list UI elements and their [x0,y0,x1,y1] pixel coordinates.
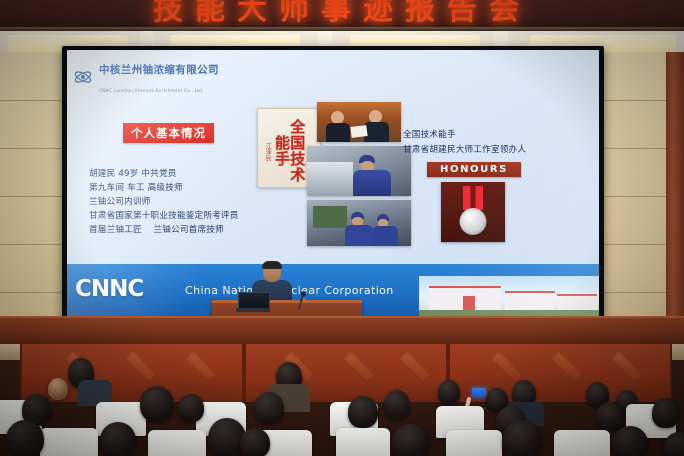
wall-wood-trim [666,52,684,342]
audience-head [178,394,204,422]
chair [40,428,98,456]
award-ceremony-photo [317,102,401,142]
laptop-base [236,308,270,312]
bio-line: 甘肃省国家第十职业技能鉴定所考评员 [89,210,319,224]
worker-at-machine-photo [307,146,411,196]
audience-head [612,426,648,456]
chair [148,430,206,456]
honours-text-block: 全国技术能手 甘肃省胡建民大师工作室领办人 [403,128,593,157]
calligraphy-text: 全国技术能手 [274,114,305,187]
projection-screen: 中核兰州铀浓缩有限公司 CNNC Lanzhou Uranium Enrichm… [67,50,599,316]
audience-head [6,420,44,456]
audience-head [140,386,174,422]
audience-head [100,422,136,456]
audience-head [502,420,542,456]
cnnc-atom-logo-icon [73,67,93,87]
audience-head [438,380,460,405]
speaker-hair [262,261,282,269]
company-name-en: CNNC Lanzhou Uranium Enrichment Co., Ltd… [99,88,204,93]
bio-line: 兰铀公司内训师 [89,196,319,210]
led-banner-text: 技能大师事迹报告会 [0,0,684,26]
audience-head [652,398,680,428]
smartphone-screen [472,388,486,397]
audience-head [48,378,68,400]
honour-line: 甘肃省胡建民大师工作室领办人 [403,143,593,158]
medal-photo [441,182,505,242]
audience-head [254,392,284,424]
medal-ribbon [463,186,483,210]
audience-head [384,390,410,420]
slide-header: 中核兰州铀浓缩有限公司 CNNC Lanzhou Uranium Enrichm… [73,58,219,96]
conference-hall-photo: 技能大师事迹报告会 [0,0,684,456]
section-title-banner: 个人基本情况 [123,123,214,143]
honour-line: 全国技术能手 [403,128,593,143]
company-name-cn: 中核兰州铀浓缩有限公司 [99,64,219,76]
honours-banner: HONOURS [427,162,521,177]
slide-header-text: 中核兰州铀浓缩有限公司 CNNC Lanzhou Uranium Enrichm… [99,58,219,96]
calligraphy-seal-text: 江泽民 [264,143,270,161]
workshop-team-photo [307,200,411,246]
chair [446,430,502,456]
factory-illustration [419,276,599,316]
audience-head [348,396,378,428]
chair [554,430,610,456]
laptop [236,292,270,312]
audience-area [0,344,684,456]
chair [336,428,390,456]
left-wall-panel [0,52,62,342]
bio-line: 首届兰铀工匠 兰铀公司首席技师 [89,224,319,238]
audience-head [392,424,430,456]
led-banner: 技能大师事迹报告会 [0,0,684,30]
audience-head [240,428,270,456]
cnnc-logo-text: CNNC [75,276,143,302]
medal-disc [460,208,487,235]
